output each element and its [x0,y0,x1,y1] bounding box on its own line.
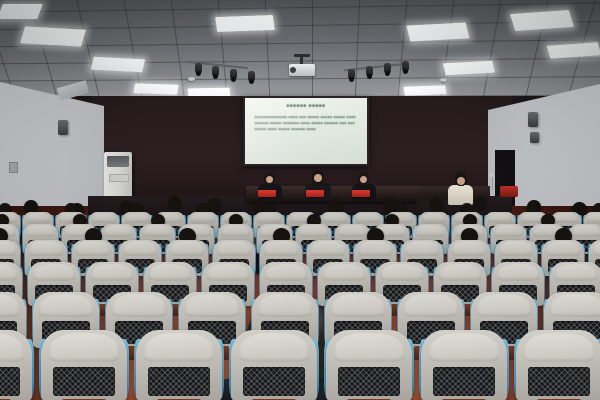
seat-headrest [76,241,110,255]
speaker-face [314,174,322,182]
light-switch-plate[interactable] [9,162,18,173]
seat-headrest [338,225,367,237]
nameplate [258,190,276,197]
seat-headrest [422,213,447,223]
seat-headrest [264,241,298,255]
ceiling-grid-line [0,75,600,82]
seat-headrest [429,333,500,362]
seat-headrest [258,294,312,316]
seat-headrest [33,264,76,282]
seat-mesh-pocket [338,367,400,396]
auditorium-seat[interactable] [41,330,127,400]
slide-body-text: ■■■■■■■■■■■■■■ ■■■■ ■■■ ■■■■■ ■■■■■ ■■■■… [255,115,357,132]
audience-member [168,196,181,209]
smoke-detector [188,77,195,81]
floor-air-conditioner [104,152,132,200]
panel-light [91,57,145,73]
seat-headrest [26,225,55,237]
seat-headrest [91,264,134,282]
nameplate [352,190,370,197]
seat-headrest [0,333,24,362]
wall-speaker [58,120,68,135]
seat-headrest [265,264,308,282]
track-spotlight [248,71,255,82]
screen-surface: ■■■■■■ ■■■■■ ■■■■■■■■■■■■■■ ■■■■ ■■■ ■■■… [245,98,367,164]
seat-headrest [144,333,215,362]
seat-headrest [125,213,150,223]
seat-mesh-pocket [243,367,305,396]
panel-light [133,83,178,95]
audience-member [208,198,221,211]
seat-headrest [0,241,16,255]
seat-headrest [221,225,250,237]
seat-headrest [217,241,251,255]
seat-mesh-pocket [433,367,495,396]
seat-headrest [239,333,310,362]
seat-headrest [299,225,328,237]
seat-headrest [191,213,216,223]
audience-member [474,196,487,209]
seat-headrest [334,333,405,362]
audience-member [430,197,443,210]
seat-headrest [0,294,20,316]
seat-headrest [546,241,580,255]
ceiling-grid-line [0,19,600,31]
seat-headrest [331,294,385,316]
ac-control-panel[interactable] [109,174,129,182]
seat-headrest [497,264,540,282]
auditorium-seat[interactable] [421,330,507,400]
seat-headrest [112,294,166,316]
seat-mesh-pocket [148,367,210,396]
seat-headrest [49,333,120,362]
seat-mesh-pocket [528,367,590,396]
attendee-body [448,185,473,205]
seat-mesh-pocket [0,367,20,396]
seat-back [0,330,32,400]
seat-headrest [323,264,366,282]
projection-screen: ■■■■■■ ■■■■■ ■■■■■■■■■■■■■■ ■■■■ ■■■ ■■■… [243,96,369,166]
seat-headrest [452,241,486,255]
seat-headrest [149,264,192,282]
seat-headrest [439,264,482,282]
seat-headrest [170,241,204,255]
seat-headrest [572,225,600,237]
seat-headrest [524,333,595,362]
seat-mesh-pocket [53,367,115,396]
panel-light [20,26,86,46]
panel-light [403,85,446,95]
auditorium-seat[interactable] [231,330,317,400]
slide-title: ■■■■■■ ■■■■■ [257,103,355,108]
ac-vent [107,156,129,167]
seat-headrest [494,225,523,237]
projector-lens [290,67,296,73]
seat-headrest [488,213,513,223]
seat-headrest [26,213,51,223]
attendee-face [457,177,465,185]
seat-headrest [477,294,531,316]
track-spotlight [212,66,219,77]
seat-headrest [185,294,239,316]
seat-headrest [499,241,533,255]
auditorium-seat[interactable] [516,330,600,400]
speaker-face [266,176,273,183]
seat-headrest [587,213,600,223]
seat-headrest [554,213,579,223]
track-spotlight [384,63,391,74]
track-spotlight [230,69,237,80]
red-bag [500,186,518,197]
seat-headrest [29,241,63,255]
seat-headrest [123,241,157,255]
speaker-face [360,176,367,183]
auditorium-seat[interactable] [326,330,412,400]
seat-headrest [0,264,17,282]
panel-light [215,15,275,32]
track-spotlight [195,63,202,74]
seat-headrest [143,225,172,237]
seat-back [516,330,600,400]
seat-back [136,330,222,400]
wall-speaker [530,132,539,143]
mic-head-icon [489,173,494,177]
seat-headrest [593,241,600,255]
auditorium-photo: ■■■■■■ ■■■■■ ■■■■■■■■■■■■■■ ■■■■ ■■■ ■■■… [0,0,600,400]
seat-headrest [358,241,392,255]
seat-headrest [257,213,282,223]
auditorium-seat[interactable] [0,330,32,400]
auditorium-seat[interactable] [136,330,222,400]
seat-back [41,330,127,400]
seat-headrest [550,294,600,316]
seat-headrest [311,241,345,255]
mic-stand [492,176,493,190]
seat-headrest [356,213,381,223]
seat-headrest [404,294,458,316]
ceiling-grid-line [0,0,600,14]
seat-headrest [405,241,439,255]
seat-headrest [104,225,133,237]
smoke-detector [440,78,447,82]
seat-back [231,330,317,400]
seat-headrest [323,213,348,223]
seat-headrest [207,264,250,282]
track-spotlight [366,66,373,77]
seat-back [421,330,507,400]
track-spotlight [348,69,355,80]
panel-light [0,4,43,19]
seat-headrest [39,294,93,316]
nameplate [306,190,324,197]
ceiling-grid-line [0,38,600,48]
seat-headrest [381,264,424,282]
panel-light [406,22,469,41]
seat-headrest [416,225,445,237]
wall-speaker [528,112,538,127]
seat-headrest [92,213,117,223]
seat-back [326,330,412,400]
seat-headrest [555,264,598,282]
track-spotlight [402,61,409,72]
